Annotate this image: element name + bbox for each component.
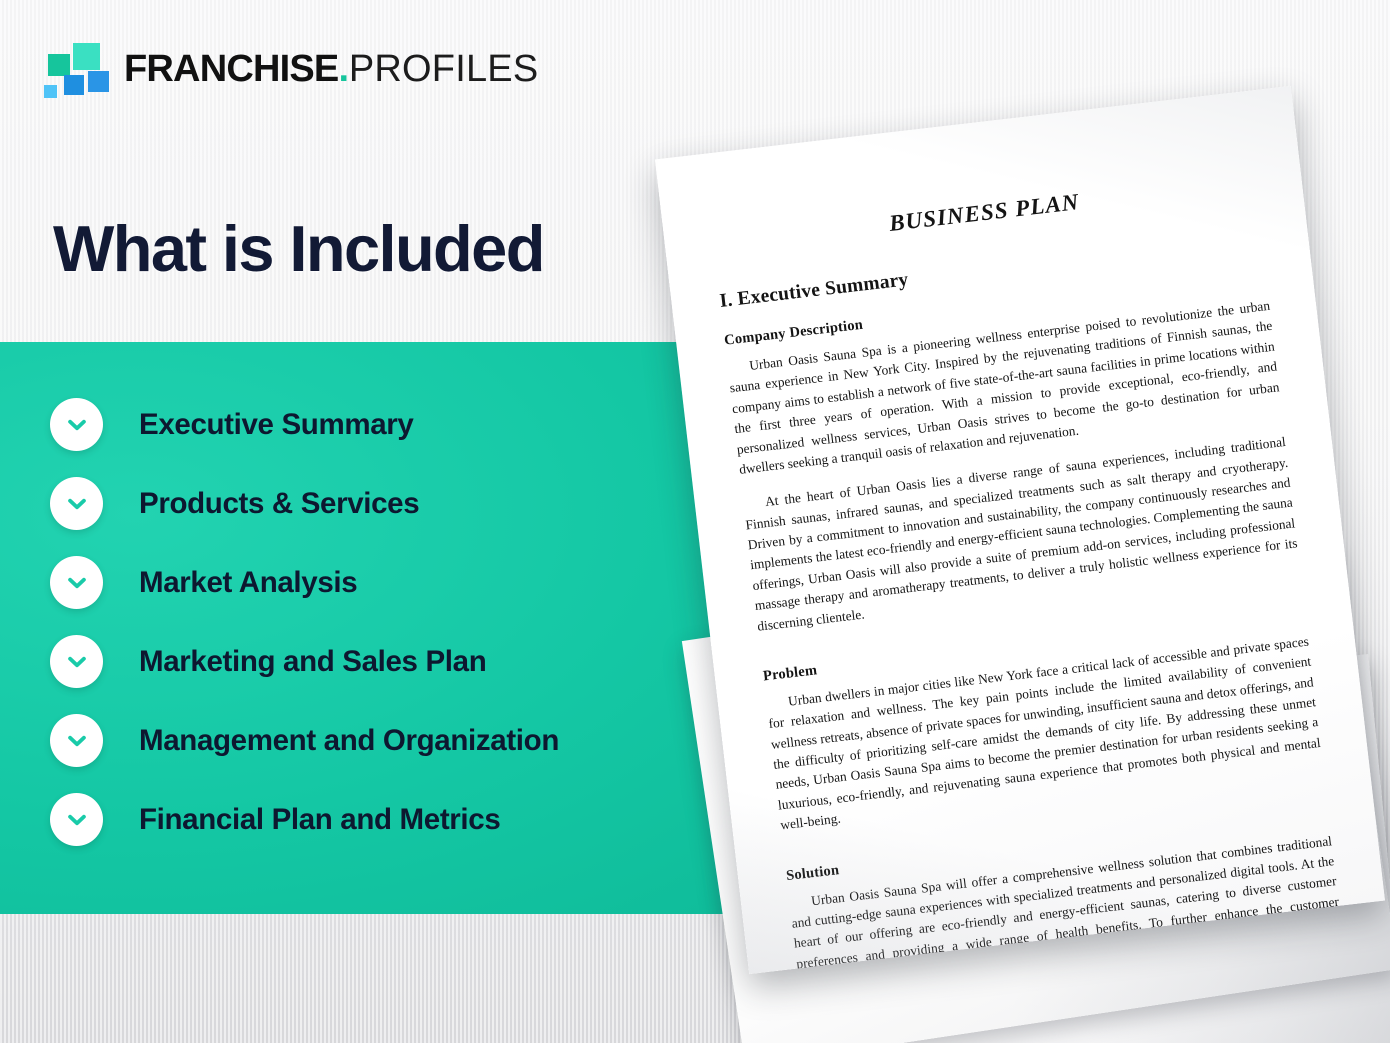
included-items-list: Executive Summary Products & Services Ma… — [0, 342, 748, 914]
chevron-down-icon — [50, 556, 103, 609]
chevron-down-icon — [50, 477, 103, 530]
logo-square-mint — [73, 43, 100, 70]
slide-canvas: FRANCHISE.PROFILES What is Included Exec… — [0, 0, 1390, 1043]
chevron-down-icon — [50, 793, 103, 846]
page-title: What is Included — [53, 216, 544, 281]
list-item-label: Products & Services — [139, 487, 419, 521]
chevron-down-icon — [50, 635, 103, 688]
squares-mosaic-icon — [44, 41, 110, 97]
list-item-label: Management and Organization — [139, 724, 559, 758]
brand-name-dot: . — [338, 48, 348, 90]
brand-wordmark: FRANCHISE.PROFILES — [124, 50, 538, 88]
logo-square-blue-small — [64, 75, 84, 95]
brand-name-light: PROFILES — [349, 48, 539, 90]
brand-name-bold: FRANCHISE — [124, 48, 338, 90]
document-sheet-front: BUSINESS PLAN I. Executive Summary Compa… — [655, 86, 1385, 974]
business-plan-document-stack: ...as the go-to urban wellness destinati… — [680, 120, 1390, 1043]
list-item-label: Market Analysis — [139, 566, 357, 600]
logo-square-blue — [88, 71, 109, 92]
list-item-market-analysis[interactable]: Market Analysis — [50, 556, 748, 609]
list-item-label: Executive Summary — [139, 408, 413, 442]
list-item-financial-plan-metrics[interactable]: Financial Plan and Metrics — [50, 793, 748, 846]
list-item-management-organization[interactable]: Management and Organization — [50, 714, 748, 767]
logo-square-lightblue — [44, 85, 57, 98]
logo-square-teal — [48, 54, 70, 76]
list-item-products-services[interactable]: Products & Services — [50, 477, 748, 530]
list-item-marketing-sales-plan[interactable]: Marketing and Sales Plan — [50, 635, 748, 688]
brand-logo[interactable]: FRANCHISE.PROFILES — [44, 38, 538, 100]
chevron-down-icon — [50, 398, 103, 451]
list-item-label: Financial Plan and Metrics — [139, 803, 500, 837]
chevron-down-icon — [50, 714, 103, 767]
list-item-label: Marketing and Sales Plan — [139, 645, 486, 679]
list-item-executive-summary[interactable]: Executive Summary — [50, 398, 748, 451]
